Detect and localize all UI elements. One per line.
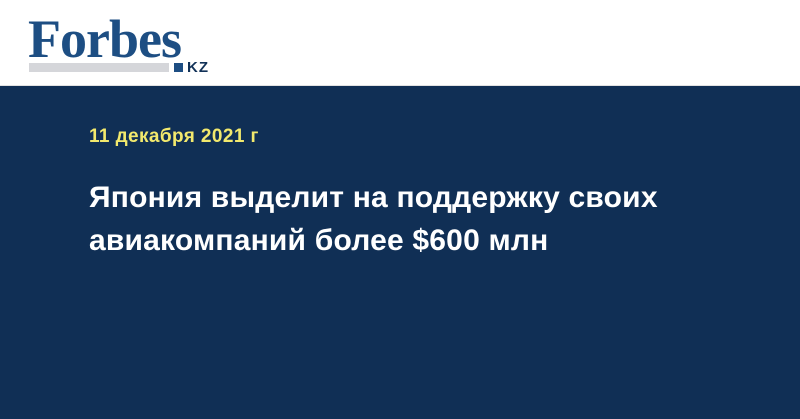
article-hero: 11 декабря 2021 г Япония выделит на подд… [0, 86, 800, 419]
article-title: Япония выделит на поддержку своих авиако… [89, 176, 714, 262]
article-card: Forbes KZ 11 декабря 2021 г Япония выдел… [0, 0, 800, 419]
logo-rule-bar [29, 63, 169, 72]
logo-country-code: KZ [187, 60, 209, 75]
forbes-wordmark: Forbes [28, 12, 181, 66]
site-header: Forbes KZ [0, 0, 800, 86]
forbes-kz-logo[interactable]: Forbes KZ [28, 12, 233, 78]
article-date: 11 декабря 2021 г [89, 126, 259, 148]
logo-square-icon [174, 63, 183, 72]
